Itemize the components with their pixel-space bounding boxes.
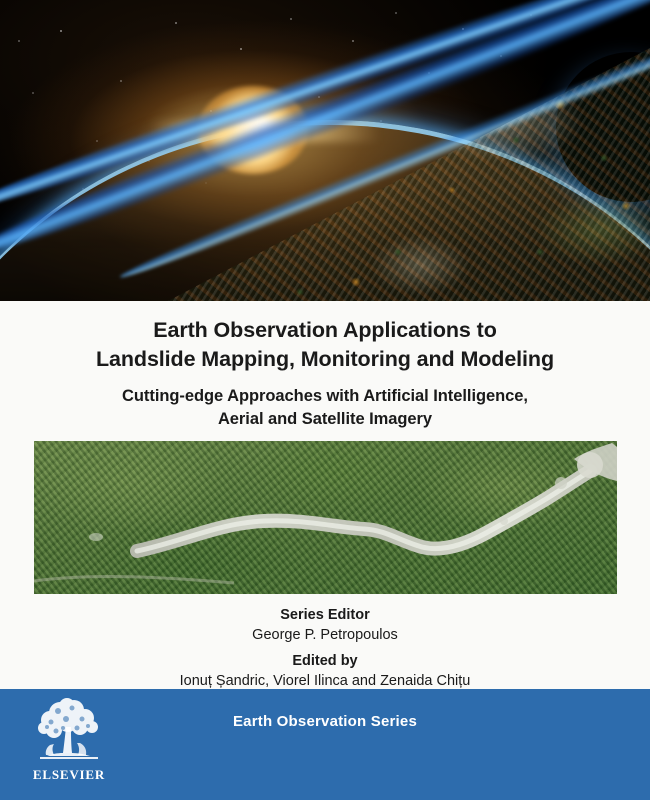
book-subtitle: Cutting-edge Approaches with Artificial … bbox=[0, 385, 650, 431]
edited-by-label: Edited by bbox=[0, 652, 650, 671]
landslide-aerial-photo bbox=[34, 441, 617, 594]
elsevier-logo: ELSEVIER bbox=[30, 697, 108, 789]
series-editor-label: Series Editor bbox=[0, 606, 650, 625]
elsevier-wordmark: ELSEVIER bbox=[30, 767, 108, 783]
debris-flow-scar bbox=[34, 441, 617, 594]
book-cover: Earth Observation Applications to Landsl… bbox=[0, 0, 650, 800]
series-name: Earth Observation Series bbox=[0, 713, 650, 730]
title-line-2: Landslide Mapping, Monitoring and Modeli… bbox=[0, 345, 650, 374]
editor-names: Ionuț Șandric, Viorel Ilinca and Zenaida… bbox=[0, 671, 650, 691]
subtitle-line-2: Aerial and Satellite Imagery bbox=[0, 408, 650, 431]
edited-by-credit: Edited by Ionuț Șandric, Viorel Ilinca a… bbox=[0, 652, 650, 691]
series-editor-credit: Series Editor George P. Petropoulos bbox=[0, 606, 650, 645]
sun-flare bbox=[150, 120, 380, 142]
book-title: Earth Observation Applications to Landsl… bbox=[0, 316, 650, 374]
elsevier-tree-icon bbox=[30, 697, 108, 767]
subtitle-line-1: Cutting-edge Approaches with Artificial … bbox=[0, 385, 650, 408]
starfield-icon bbox=[0, 0, 2, 2]
series-editor-name: George P. Petropoulos bbox=[0, 625, 650, 645]
publisher-band: ELSEVIER Earth Observation Series bbox=[0, 689, 650, 800]
title-line-1: Earth Observation Applications to bbox=[0, 316, 650, 345]
hero-image-space-and-terrain bbox=[0, 0, 650, 301]
